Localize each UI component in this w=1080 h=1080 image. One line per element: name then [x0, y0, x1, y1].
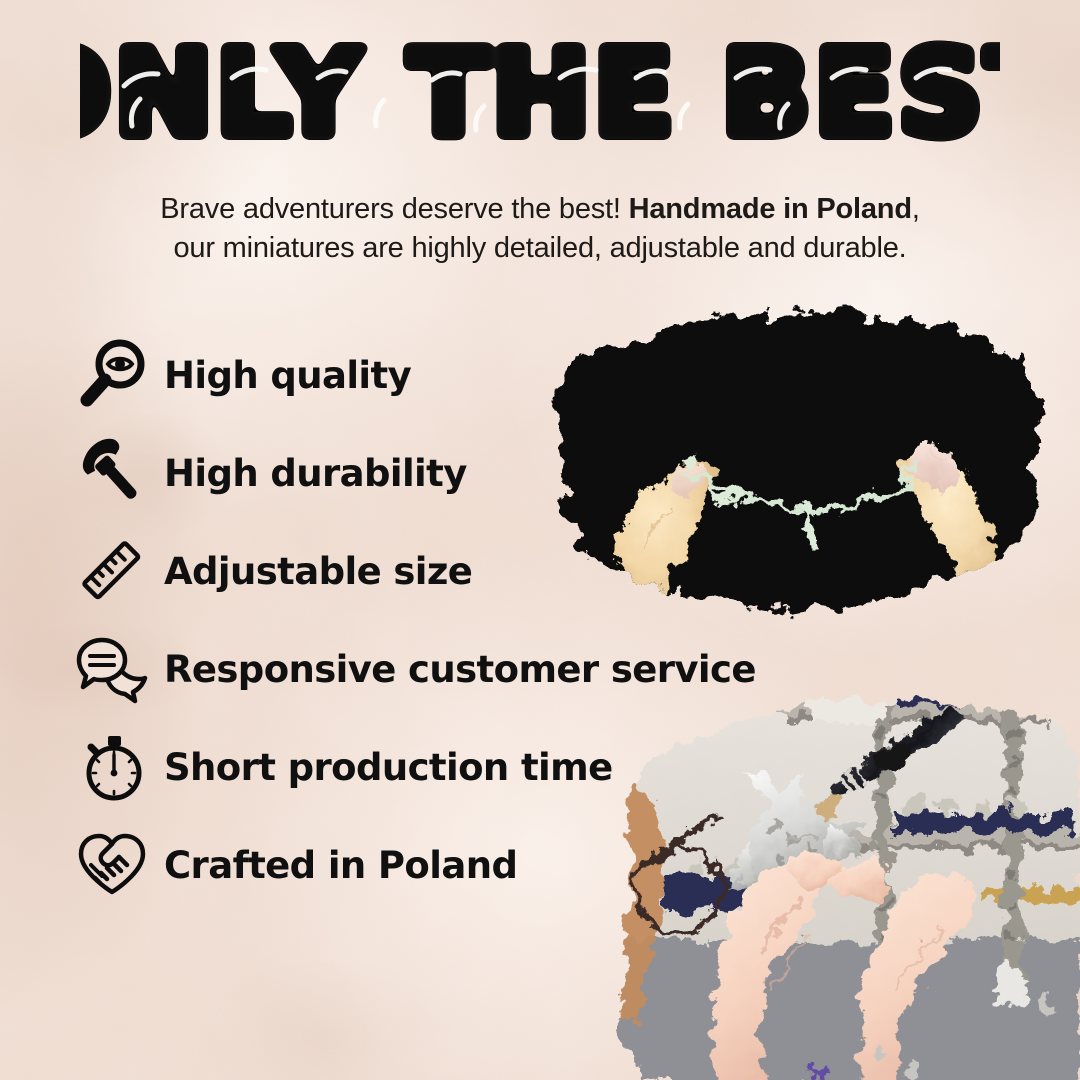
- feature-label: Responsive customer service: [164, 648, 756, 691]
- subtitle-line-1: Brave adventurers deserve the best! Hand…: [160, 193, 919, 225]
- feature-label: High durability: [164, 452, 467, 495]
- subtitle-line-2: our miniatures are highly detailed, adju…: [173, 232, 906, 264]
- feature-label: Adjustable size: [164, 550, 472, 593]
- stopwatch-icon: [60, 730, 164, 804]
- feature-item-high-quality: High quality: [60, 326, 820, 424]
- subtitle-lead: Brave adventurers deserve the best!: [160, 193, 628, 225]
- infographic-canvas: ONLY THE BEST Brave adventu: [0, 0, 1080, 1080]
- magnifier-eye-icon: [60, 338, 164, 412]
- subtitle-emphasis: Handmade in Poland: [629, 193, 912, 225]
- heart-handshake-icon: [60, 828, 164, 902]
- hammer-icon: [60, 436, 164, 510]
- feature-label: High quality: [164, 354, 411, 397]
- speech-bubbles-icon: [60, 632, 164, 706]
- subtitle-trail: ,: [912, 193, 920, 225]
- feature-label: Crafted in Poland: [164, 844, 517, 887]
- feature-label: Short production time: [164, 746, 613, 789]
- subtitle: Brave adventurers deserve the best! Hand…: [90, 190, 990, 267]
- photo-workshop-hands: [575, 690, 1080, 1080]
- feature-item-adjustable-size: Adjustable size: [60, 522, 820, 620]
- photo-bottom-torn-mask: [575, 690, 1080, 1080]
- feature-item-high-durability: High durability: [60, 424, 820, 522]
- ruler-icon: [60, 534, 164, 608]
